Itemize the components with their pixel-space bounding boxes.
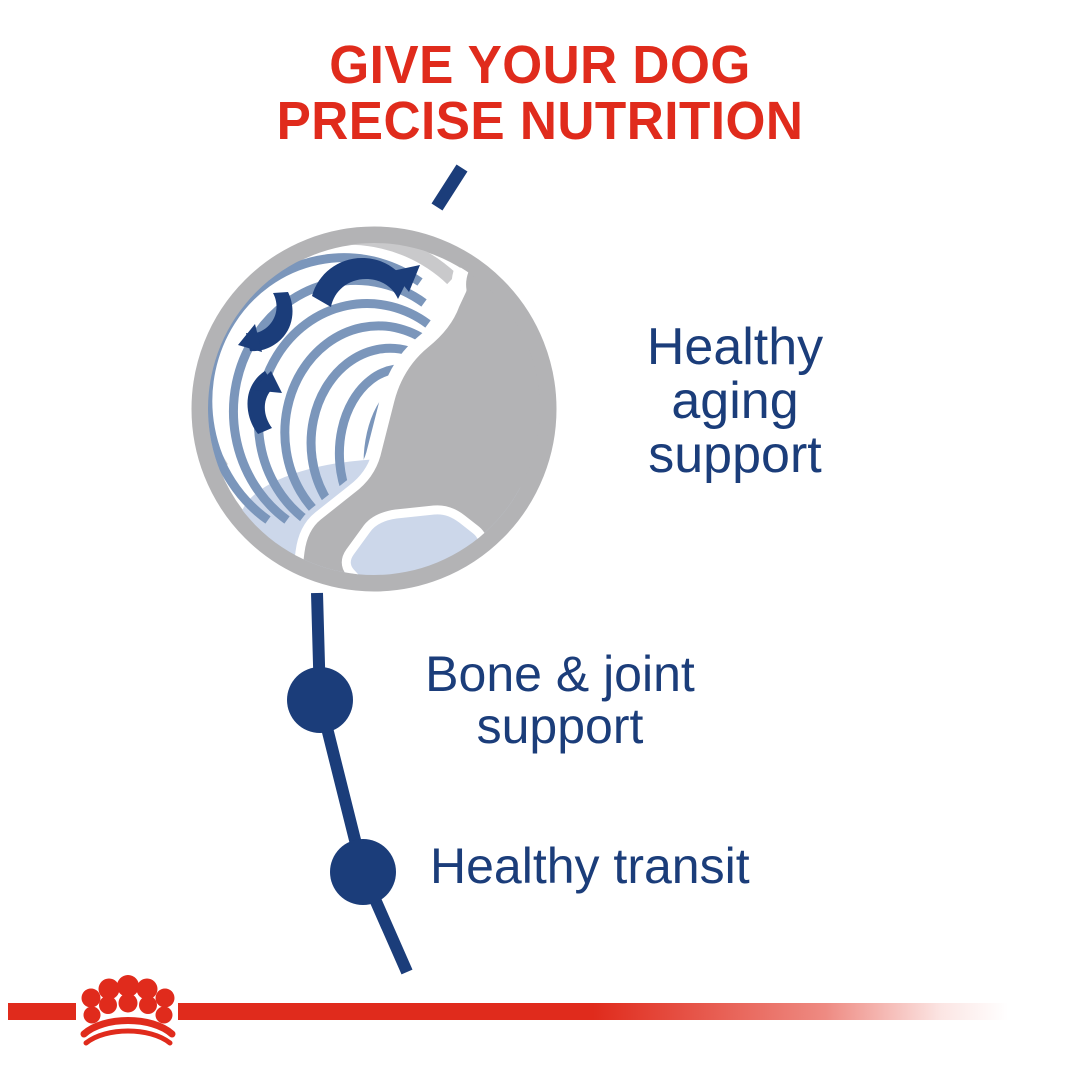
benefit-line: Healthy transit	[430, 840, 890, 892]
crown-arc	[84, 1021, 172, 1035]
icon-wave-arc	[311, 348, 436, 520]
icon-arrow-left	[238, 324, 262, 352]
page-title: GIVE YOUR DOG PRECISE NUTRITION	[27, 38, 1053, 149]
benefit-label-healthy-transit: Healthy transit	[430, 840, 890, 892]
icon-arrow-up	[252, 371, 282, 393]
icon-arrow-up	[247, 371, 275, 434]
footer-bar-right	[178, 1003, 1008, 1020]
icon-arrow-up-right	[392, 265, 420, 292]
crown-dot	[117, 975, 139, 997]
icon-wave-arc	[368, 384, 444, 520]
icon-wave-arc	[208, 258, 420, 520]
icon-dog-silhouette	[296, 253, 589, 602]
footer-bar-left	[8, 1003, 76, 1020]
crown-dot	[119, 994, 138, 1013]
crown-dot	[156, 989, 175, 1008]
connector-top-dash	[437, 168, 462, 207]
crown-dot	[84, 1007, 101, 1024]
benefit-line: Healthy	[580, 320, 890, 374]
headline-line-1: GIVE YOUR DOG	[27, 38, 1053, 94]
crown-dot	[99, 996, 117, 1014]
crown-arc	[86, 1031, 170, 1043]
icon-wave-arc	[233, 280, 424, 520]
benefit-label-healthy-aging-support: Healthy aging support	[580, 320, 890, 482]
icon-inner-grey-arc	[199, 238, 452, 468]
benefit-label-bone-and-joint-support: Bone & joint support	[330, 648, 790, 752]
crown-dot	[82, 989, 101, 1008]
benefit-line: aging	[580, 374, 890, 428]
benefit-connector-line	[0, 0, 1080, 1080]
icon-wave-arc	[258, 304, 428, 520]
icon-wave-arc	[285, 326, 432, 520]
benefit-line: support	[330, 700, 790, 752]
poster-canvas: GIVE YOUR DOG PRECISE NUTRITION	[0, 0, 1080, 1080]
crown-dot	[137, 979, 158, 1000]
icon-arrow-up-right	[312, 258, 406, 307]
icon-arrow-left	[246, 292, 293, 351]
royal-canin-crown-logo	[82, 975, 175, 1043]
icon-wave-arc	[339, 369, 440, 520]
icon-ground-shadow	[240, 459, 544, 583]
benefit-line: Bone & joint	[330, 648, 790, 700]
crown-dot	[99, 979, 120, 1000]
crown-dot	[139, 996, 157, 1014]
footer-brand-bar	[0, 0, 1080, 1080]
headline-line-2: PRECISE NUTRITION	[27, 94, 1053, 150]
benefit-line: support	[580, 428, 890, 482]
icon-outer-ring	[200, 235, 548, 583]
dog-healthy-aging-icon	[0, 0, 1080, 1080]
crown-dot	[156, 1007, 173, 1024]
connector-node-healthy-transit	[330, 839, 396, 905]
icon-arrow-group	[238, 258, 420, 434]
